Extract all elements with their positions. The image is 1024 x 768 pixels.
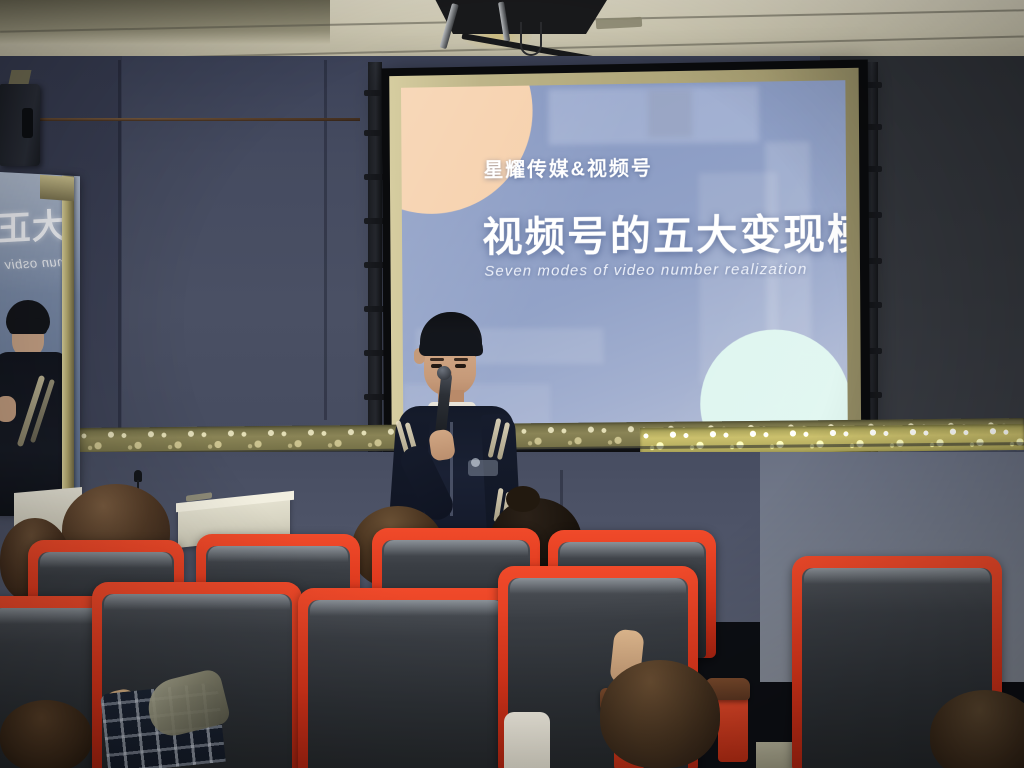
presenter-hand (428, 428, 456, 461)
mirror-frame (62, 176, 74, 521)
audience-head (0, 700, 92, 768)
speaker-cone (22, 108, 33, 138)
presenter-fringe (419, 332, 483, 356)
wall-seam (324, 60, 327, 420)
mirror-reflected-cn-text: 大正咱 (0, 198, 66, 251)
presenter-eye (455, 364, 466, 368)
slide-kicker-text: 星耀传媒&视频号 (484, 152, 653, 183)
mirror-reflected-presenter (0, 300, 64, 514)
slide-ghost-image (648, 89, 693, 138)
lecture-hall-photo: 星耀传媒&视频号 视频号的五大变现模式 Seven modes of video… (0, 0, 1024, 768)
wall-speaker-icon (0, 84, 40, 166)
slide-title-text: 视频号的五大变现模式 (482, 199, 848, 263)
presenter-eyebrow (430, 358, 444, 361)
ceiling-shadow-left (0, 0, 330, 44)
reflected-hand (0, 396, 16, 422)
wall-seam (118, 60, 121, 430)
mirror-top-clip (40, 175, 74, 201)
wall-seam (0, 118, 360, 121)
audience-white-sleeve (504, 712, 550, 768)
presenter-eyebrow (454, 358, 468, 361)
speaker-bracket (9, 70, 32, 84)
slide-decor-circle-peach (401, 80, 533, 215)
slide-subtitle-text: Seven modes of video number realization (484, 261, 807, 280)
reflected-fringe (9, 318, 47, 334)
audience-hair-bun (506, 486, 540, 512)
screen-support-pole-left (368, 62, 382, 482)
projector-cable (520, 22, 542, 56)
seat (298, 588, 516, 768)
seat-arm-base (718, 692, 748, 762)
jacket-logo-emblem (471, 458, 480, 467)
audience-head (600, 660, 720, 768)
wall-decorative-band-lit (640, 424, 1024, 454)
